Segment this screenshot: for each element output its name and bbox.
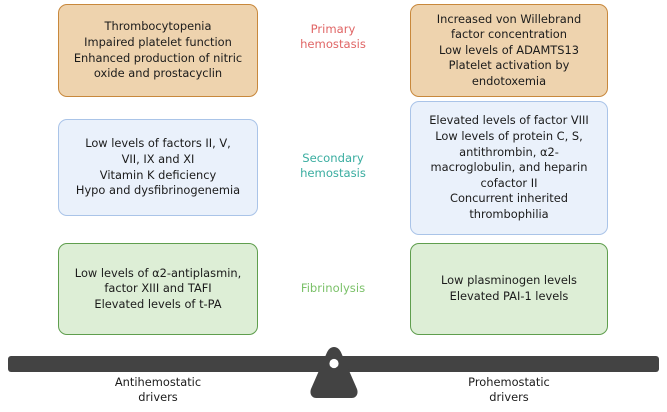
stage-label-primary-hemostasis: Primary hemostasis: [290, 22, 376, 53]
antihemostatic-box-secondary-hemostasis: Low levels of factors II, V, VII, IX and…: [58, 119, 258, 216]
antihemostatic-box-primary-hemostasis: Thrombocytopenia Impaired platelet funct…: [58, 4, 258, 97]
stage-label-fibrinolysis: Fibrinolysis: [290, 281, 376, 296]
antihemostatic-box-fibrinolysis: Low levels of α2-antiplasmin, factor XII…: [58, 243, 258, 335]
hemostasis-balance-diagram: Thrombocytopenia Impaired platelet funct…: [0, 0, 667, 412]
prohemostatic-box-primary-hemostasis: Increased von Willebrand factor concentr…: [410, 4, 608, 97]
prohemostatic-box-fibrinolysis: Low plasminogen levels Elevated PAI-1 le…: [410, 243, 608, 335]
prohemostatic-box-secondary-hemostasis: Elevated levels of factor VIII Low level…: [410, 101, 608, 235]
stage-label-secondary-hemostasis: Secondary hemostasis: [290, 151, 376, 182]
fulcrum-triangle-icon: [305, 344, 363, 402]
prohemostatic-drivers-caption: Prohemostatic drivers: [429, 375, 589, 406]
antihemostatic-drivers-caption: Antihemostatic drivers: [78, 375, 238, 406]
